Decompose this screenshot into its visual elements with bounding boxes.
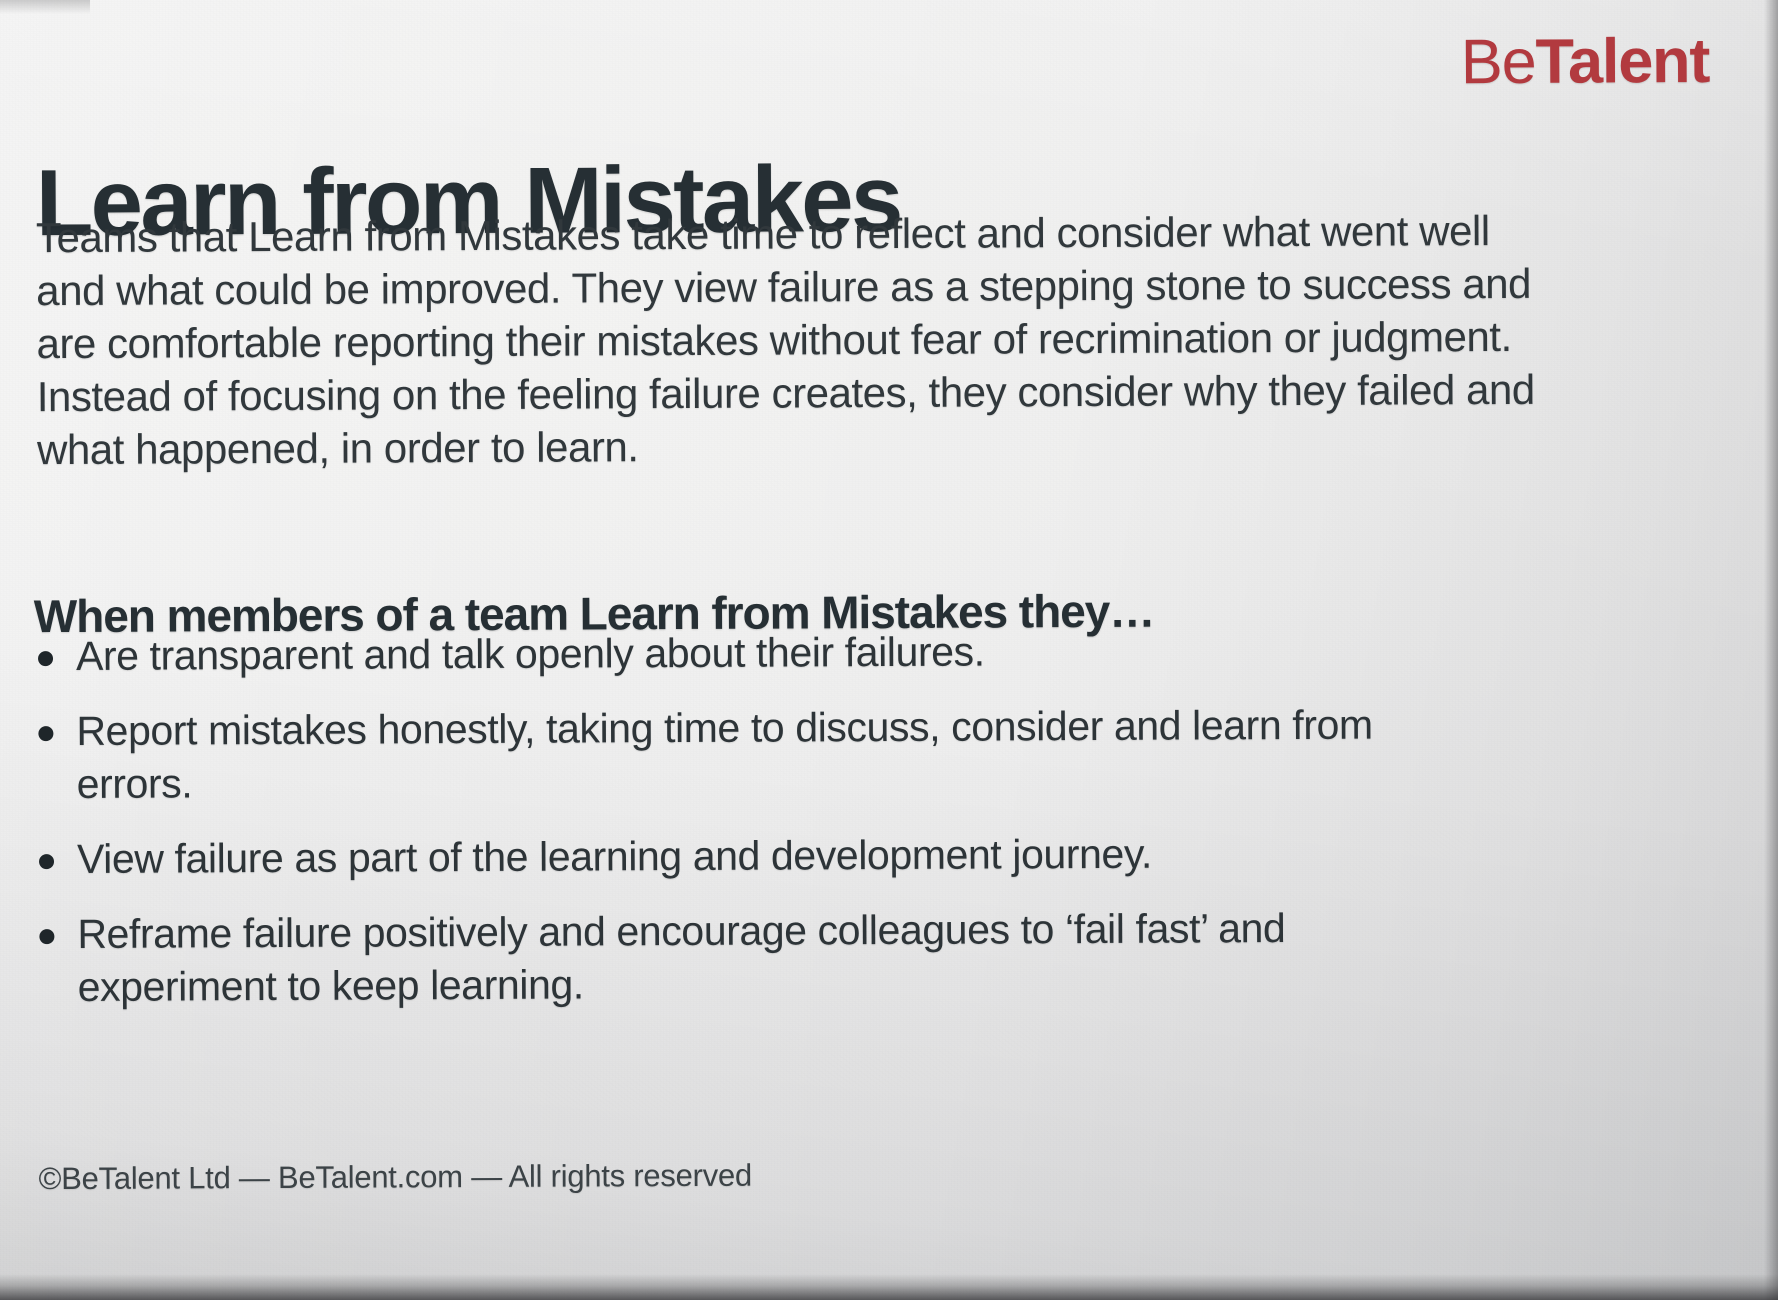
card-content: BeTalent Learn from Mistakes Teams that … (0, 0, 1778, 1300)
logo-text-talent: Talent (1535, 26, 1709, 97)
list-item-line: View failure as part of the learning and… (77, 826, 1495, 886)
list-item: Are transparent and talk openly about th… (34, 623, 1494, 683)
bullet-dot-icon (38, 726, 53, 741)
intro-line: and what could be improved. They view fa… (36, 257, 1516, 317)
list-item: Report mistakes honestly, taking time to… (34, 698, 1495, 811)
behaviour-bullet-list: Are transparent and talk openly about th… (34, 623, 1496, 1014)
bullet-dot-icon (39, 929, 54, 944)
betalent-learn-from-mistakes-card: BeTalent Learn from Mistakes Teams that … (0, 0, 1778, 1300)
intro-paragraph: Teams that Learn from Mistakes take time… (36, 204, 1517, 476)
intro-line: what happened, in order to learn. (37, 416, 1517, 476)
bullet-dot-icon (39, 854, 54, 869)
list-item-line: Report mistakes honestly, taking time to… (76, 698, 1494, 758)
list-item-line: Are transparent and talk openly about th… (76, 623, 1494, 683)
list-item-line: Reframe failure positively and encourage… (77, 901, 1495, 961)
list-item: Reframe failure positively and encourage… (35, 901, 1496, 1014)
photo-edge-topleft (0, 0, 90, 14)
list-item-line: experiment to keep learning. (78, 954, 1496, 1014)
copyright-footer: ©BeTalent Ltd — BeTalent.com — All right… (38, 1158, 752, 1197)
intro-line: are comfortable reporting their mistakes… (36, 310, 1516, 370)
photo-edge-bottom (0, 1274, 1778, 1300)
intro-line: Instead of focusing on the feeling failu… (37, 363, 1517, 423)
intro-line: Teams that Learn from Mistakes take time… (36, 204, 1516, 264)
list-item-line: errors. (77, 751, 1495, 811)
bullet-dot-icon (38, 651, 53, 666)
betalent-logo: BeTalent (1461, 30, 1710, 94)
photo-edge-right (1764, 0, 1778, 1300)
logo-text-be: Be (1461, 27, 1536, 97)
list-item: View failure as part of the learning and… (35, 826, 1495, 886)
